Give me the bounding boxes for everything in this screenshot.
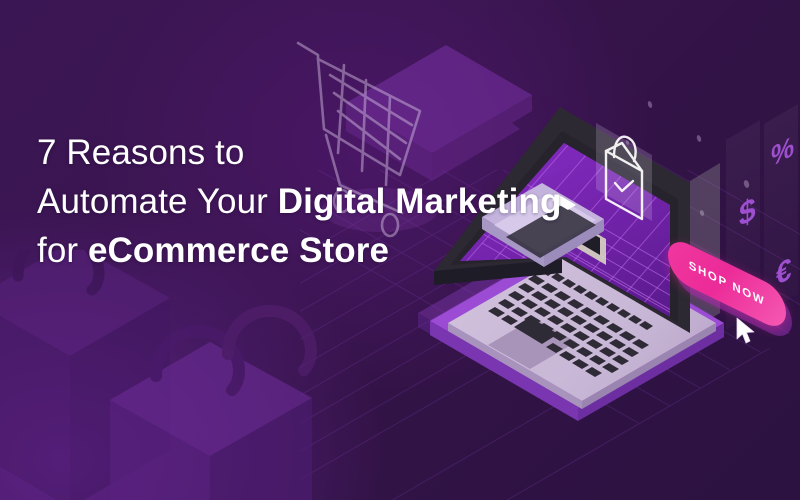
page-title: 7 Reasons to Automate Your Digital Marke…	[37, 128, 507, 275]
headline-line-3: for eCommerce Store	[37, 226, 507, 275]
headline-line-1-text: 7 Reasons to	[37, 133, 244, 172]
headline-line-3-regular: for	[37, 231, 88, 270]
headline-line-2-bold: Digital Marketing	[278, 182, 562, 221]
promo-banner: % $ €	[0, 0, 800, 500]
shop-now-button[interactable]: SHOP NOW	[668, 263, 790, 309]
headline-line-3-bold: eCommerce Store	[88, 231, 389, 270]
headline-line-2: Automate Your Digital Marketing	[37, 177, 507, 226]
headline-line-1: 7 Reasons to	[37, 128, 507, 177]
mouse-cursor-icon	[735, 317, 757, 345]
headline-line-2-regular: Automate Your	[37, 182, 278, 221]
background-shopping-bags	[0, 250, 380, 500]
